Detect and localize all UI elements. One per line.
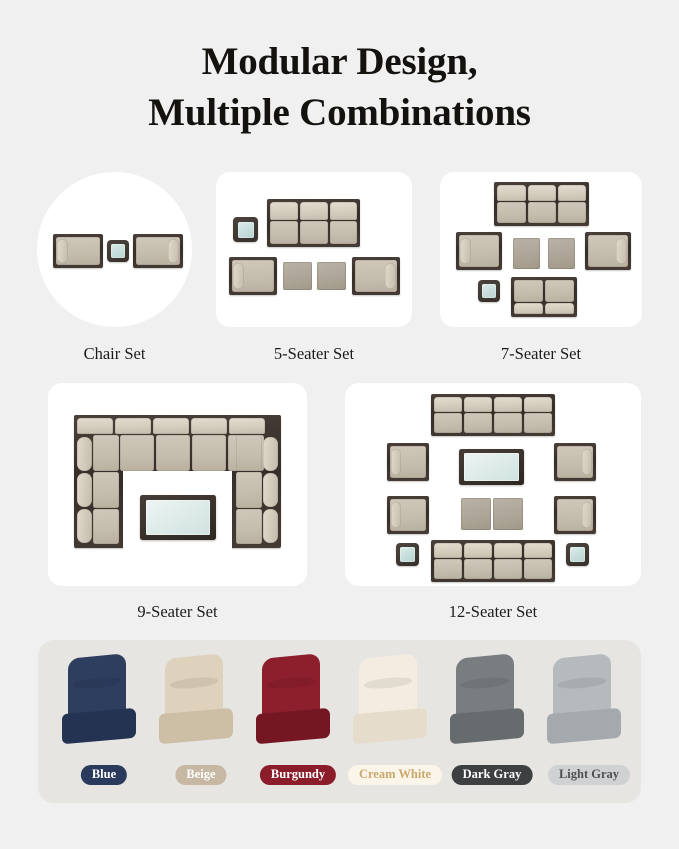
color-option-blue[interactable]: Blue [56, 640, 152, 803]
sofa-3-seat [267, 199, 360, 247]
cushion-seat [450, 708, 524, 744]
page-title: Modular Design, Multiple Combinations [0, 36, 679, 138]
chair-right-bottom [554, 496, 596, 534]
sofa-4-seat-top [431, 394, 555, 436]
color-option-beige[interactable]: Beige [153, 640, 249, 803]
set-label-7-seater-set: 7-Seater Set [501, 344, 581, 364]
ottoman-2 [493, 498, 523, 530]
cushion-seat [256, 708, 330, 744]
7-seater-set-diagram [440, 172, 642, 327]
sofa-3-seat [494, 182, 589, 226]
chair-set-diagram [37, 172, 192, 327]
side-table [478, 280, 500, 302]
color-option-cream-white[interactable]: Cream White [347, 640, 443, 803]
chair-left [456, 232, 502, 270]
cushion-swatch-image [444, 654, 540, 750]
chair-left [53, 234, 103, 268]
ottoman-2 [548, 238, 575, 269]
sofa-4-seat-bottom [431, 540, 555, 582]
color-option-dark-gray[interactable]: Dark Gray [444, 640, 540, 803]
set-chair-set[interactable]: Chair Set [37, 172, 192, 364]
color-label-blue: Blue [81, 765, 127, 785]
set-7-seater-set[interactable]: 7-Seater Set [440, 172, 642, 364]
ottoman-2 [317, 262, 346, 290]
side-table [233, 217, 258, 242]
12-seater-set-diagram [345, 383, 641, 586]
set-label-12-seater-set: 12-Seater Set [449, 602, 537, 622]
set-label-chair-set: Chair Set [84, 344, 146, 364]
side-table-right [566, 543, 589, 566]
cushion-seat [159, 708, 233, 744]
chair-left [229, 257, 277, 295]
color-label-light-gray: Light Gray [548, 765, 630, 785]
set-label-9-seater-set: 9-Seater Set [137, 602, 217, 622]
chair-left-bottom [387, 496, 429, 534]
side-table [107, 240, 129, 262]
page-title-line-1: Modular Design, [202, 40, 478, 83]
color-label-cream-white: Cream White [348, 765, 442, 785]
chair-right-top [554, 443, 596, 481]
cushion-seat [62, 708, 136, 744]
color-option-light-gray[interactable]: Light Gray [541, 640, 637, 803]
9-seater-set-diagram [48, 383, 307, 586]
coffee-table [140, 495, 216, 540]
loveseat-2-seat [511, 277, 577, 317]
set-12-seater-set[interactable]: 12-Seater Set [345, 383, 641, 622]
set-9-seater-set[interactable]: 9-Seater Set [48, 383, 307, 622]
chair-right [133, 234, 183, 268]
color-label-dark-gray: Dark Gray [452, 765, 533, 785]
ottoman-1 [513, 238, 540, 269]
cushion-swatch-image [347, 654, 443, 750]
page-title-line-2: Multiple Combinations [0, 87, 679, 138]
side-table-left [396, 543, 419, 566]
ottoman-1 [461, 498, 491, 530]
color-label-beige: Beige [175, 765, 226, 785]
coffee-table [459, 449, 524, 485]
cushion-seat [353, 708, 427, 744]
chair-right [585, 232, 631, 270]
5-seater-set-diagram [216, 172, 412, 327]
color-option-burgundy[interactable]: Burgundy [250, 640, 346, 803]
ottoman-1 [283, 262, 312, 290]
chair-right [352, 257, 400, 295]
cushion-swatch-image [153, 654, 249, 750]
cushion-swatch-image [250, 654, 346, 750]
color-label-burgundy: Burgundy [260, 765, 336, 785]
color-options-panel: Blue Beige Burgundy Cream White Dark Gra… [38, 640, 641, 803]
set-5-seater-set[interactable]: 5-Seater Set [216, 172, 412, 364]
cushion-swatch-image [541, 654, 637, 750]
cushion-seat [547, 708, 621, 744]
chair-left-top [387, 443, 429, 481]
cushion-swatch-image [56, 654, 152, 750]
set-label-5-seater-set: 5-Seater Set [274, 344, 354, 364]
